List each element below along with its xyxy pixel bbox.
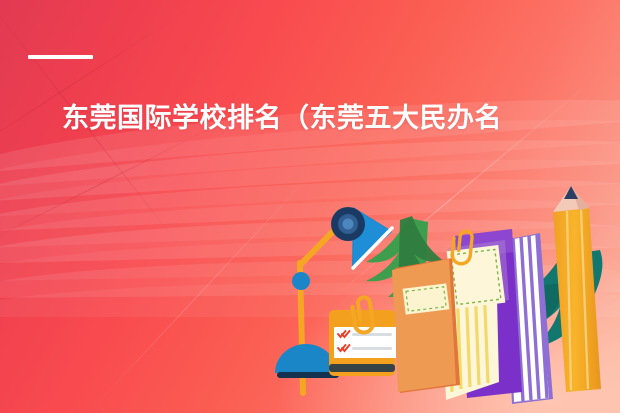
dashed-note-icon xyxy=(447,245,506,309)
promo-banner: 东莞国际学校排名（东莞五大民办名 xyxy=(0,0,620,413)
pencil-icon xyxy=(553,186,601,392)
stationery-illustration xyxy=(0,0,620,413)
orange-notebook-icon xyxy=(392,258,460,393)
clipboard-icon xyxy=(329,296,396,376)
